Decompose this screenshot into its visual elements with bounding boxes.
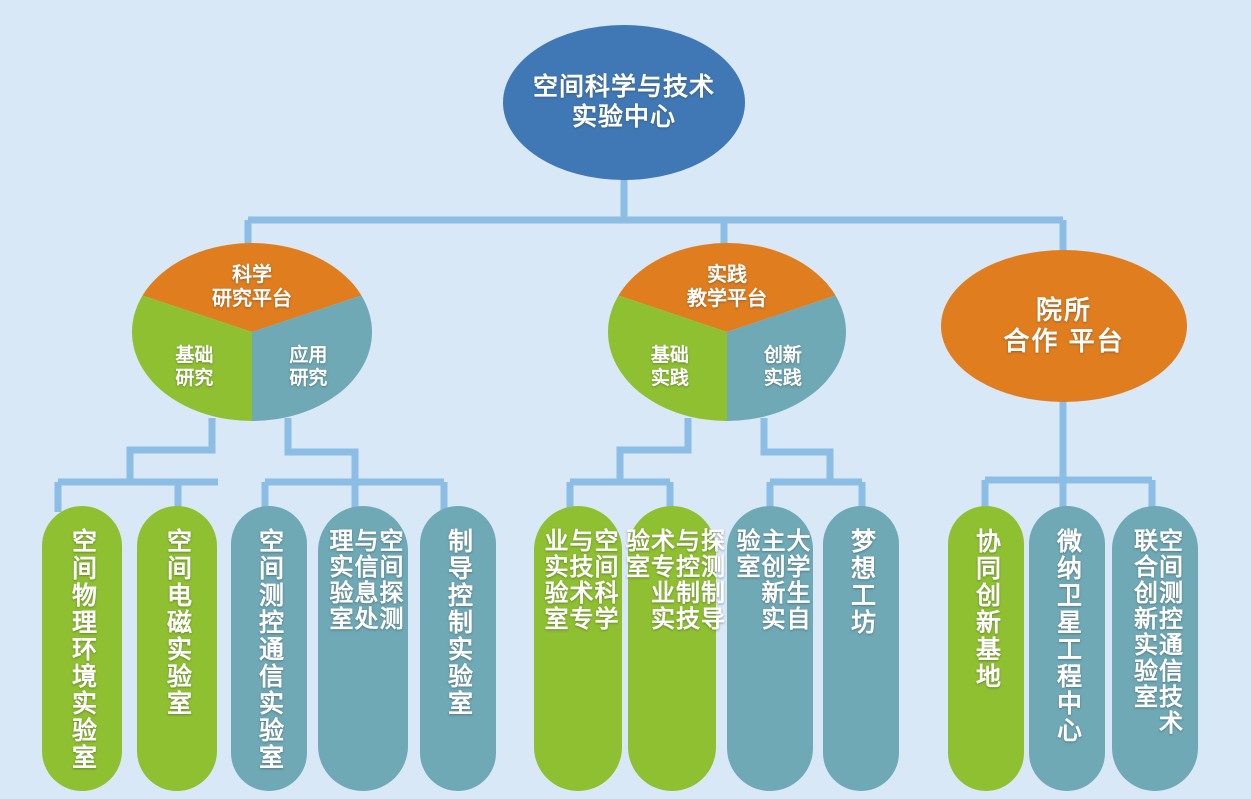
lab-node-student-innovation[interactable]: 大学生自 主创新实 验室: [727, 506, 813, 791]
lab-node-space-electromagnetic[interactable]: 空间电磁实验室: [137, 506, 217, 791]
lab-node-space-sci-tech-major[interactable]: 空间科学 与技术专 业实验室: [534, 506, 622, 791]
platform-label-science-research: 科学 研究平台: [132, 254, 372, 322]
platform-sublabel-basic-research: 基础 研究: [146, 336, 242, 400]
lab-label-collaborative-innovation: 协同创新基地: [948, 506, 1024, 791]
lab-node-guidance-control[interactable]: 制导控制实验室: [420, 506, 496, 791]
lab-label-space-ttc-comm: 空间测控通信实验室: [231, 506, 307, 791]
lab-label-space-electromagnetic: 空间电磁实验室: [137, 506, 217, 791]
lab-node-dream-workshop[interactable]: 梦想工坊: [823, 506, 899, 791]
lab-label-dream-workshop: 梦想工坊: [823, 506, 899, 791]
lab-label-space-sci-tech-major: 空间科学 与技术专 业实验室: [534, 506, 622, 791]
lab-node-space-physics-env[interactable]: 空间物理环境实验室: [42, 506, 122, 791]
root-node-label: 空间科学与技术 实验中心: [503, 25, 745, 180]
lab-label-detect-guide-ctrl-major: 探测制导 与控制技 术专业实 验室: [628, 506, 716, 791]
org-chart-canvas: 空间科学与技术 实验中心 科学 研究平台 基础 研究 应用 研究 实践 教学平台…: [0, 0, 1251, 799]
lab-node-detect-guide-ctrl-major[interactable]: 探测制导 与控制技 术专业实 验室: [628, 506, 716, 791]
platform-label-institute-cooperation: 院所 合作 平台: [941, 250, 1187, 402]
platform-node-institute-cooperation[interactable]: 院所 合作 平台: [941, 250, 1187, 402]
lab-label-space-physics-env: 空间物理环境实验室: [42, 506, 122, 791]
platform-sublabel-innovation-practice: 创新 实践: [734, 336, 832, 400]
platform-node-practice-teaching[interactable]: 实践 教学平台 基础 实践 创新 实践: [608, 243, 846, 421]
lab-label-micro-nano-satellite: 微纳卫星工程中心: [1029, 506, 1105, 791]
platform-node-science-research[interactable]: 科学 研究平台 基础 研究 应用 研究: [132, 243, 372, 421]
lab-label-space-detect-info: 空间探测 与信息处 理实验室: [318, 506, 408, 791]
lab-node-space-ttc-comm[interactable]: 空间测控通信实验室: [231, 506, 307, 791]
lab-label-student-innovation: 大学生自 主创新实 验室: [727, 506, 813, 791]
lab-node-collaborative-innovation[interactable]: 协同创新基地: [948, 506, 1024, 791]
platform-label-practice-teaching: 实践 教学平台: [608, 254, 846, 322]
lab-label-guidance-control: 制导控制实验室: [420, 506, 496, 791]
lab-node-micro-nano-satellite[interactable]: 微纳卫星工程中心: [1029, 506, 1105, 791]
lab-node-joint-innovation-ttc[interactable]: 空间测控通信技术 联合创新实验室: [1112, 506, 1198, 791]
platform-sublabel-basic-practice: 基础 实践: [622, 336, 717, 400]
lab-node-space-detect-info[interactable]: 空间探测 与信息处 理实验室: [318, 506, 408, 791]
platform-sublabel-applied-research: 应用 研究: [259, 336, 357, 400]
root-node-space-science-tech-center[interactable]: 空间科学与技术 实验中心: [503, 25, 745, 180]
lab-label-joint-innovation-ttc: 空间测控通信技术 联合创新实验室: [1112, 506, 1198, 791]
